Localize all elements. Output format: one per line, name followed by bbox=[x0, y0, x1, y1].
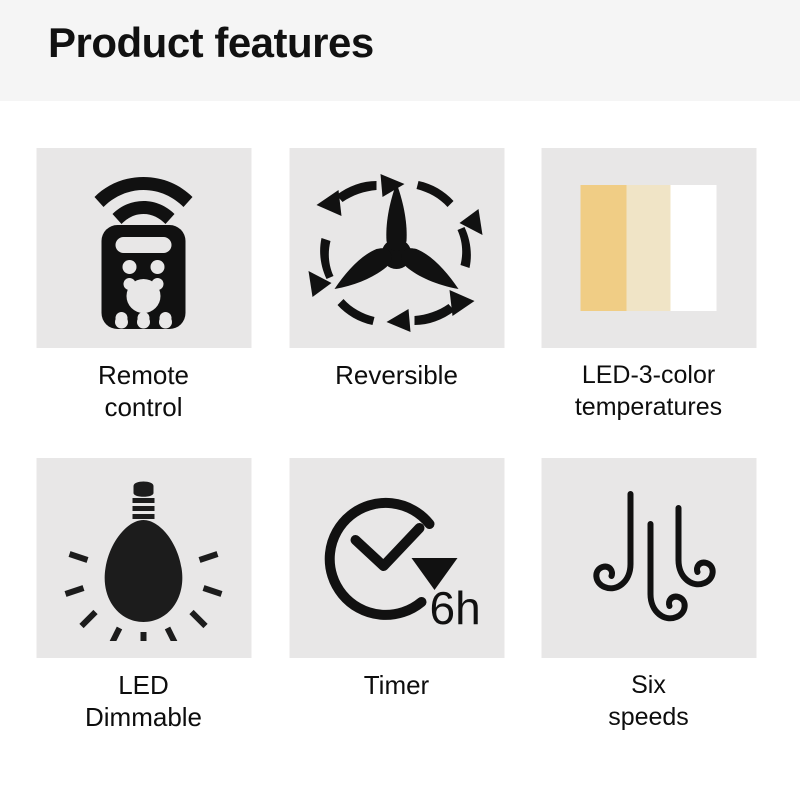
page-title: Product features bbox=[48, 20, 374, 66]
feature-caption: LED Dimmable bbox=[17, 669, 270, 733]
reversible-fan-icon bbox=[307, 161, 487, 336]
caption-line-2: speeds bbox=[522, 701, 775, 733]
swatch-warm bbox=[581, 185, 627, 311]
feature-card-led-color-temperatures[interactable]: LED-3-color temperatures bbox=[522, 137, 775, 447]
color-temperature-swatches-icon bbox=[579, 183, 719, 313]
feature-icon-tile: 6h bbox=[289, 458, 504, 658]
feature-icon-tile bbox=[541, 458, 756, 658]
timer-clock-icon: 6h bbox=[312, 478, 482, 638]
feature-card-six-speeds[interactable]: Six speeds bbox=[522, 447, 775, 757]
remote-control-icon bbox=[64, 163, 224, 333]
feature-caption: Six speeds bbox=[522, 669, 775, 733]
features-row-2: LED Dimmable 6h bbox=[0, 447, 800, 757]
caption-line-2: control bbox=[17, 391, 270, 423]
feature-icon-tile bbox=[541, 148, 756, 348]
feature-icon-tile bbox=[289, 148, 504, 348]
feature-caption: Reversible bbox=[270, 359, 523, 391]
swatch-cool bbox=[671, 185, 717, 311]
feature-icon-tile bbox=[36, 458, 251, 658]
caption-line-1: Remote bbox=[17, 359, 270, 391]
caption-line-1: Six bbox=[522, 669, 775, 701]
caption-line-1: Reversible bbox=[270, 359, 523, 391]
header-bar: Product features bbox=[0, 0, 800, 101]
product-features-infographic: Product features bbox=[0, 0, 800, 800]
feature-card-reversible[interactable]: Reversible bbox=[270, 137, 523, 447]
feature-card-timer[interactable]: 6h Timer bbox=[270, 447, 523, 757]
features-row-1: Remote control bbox=[0, 137, 800, 447]
feature-caption: Remote control bbox=[17, 359, 270, 423]
feature-caption: LED-3-color temperatures bbox=[522, 359, 775, 423]
caption-line-1: Timer bbox=[270, 669, 523, 701]
caption-line-1: LED bbox=[17, 669, 270, 701]
feature-icon-tile bbox=[36, 148, 251, 348]
caption-line-1: LED-3-color bbox=[522, 359, 775, 391]
airflow-speeds-icon bbox=[579, 478, 719, 638]
timer-badge-text: 6h bbox=[430, 582, 481, 634]
caption-line-2: temperatures bbox=[522, 391, 775, 423]
light-bulb-icon bbox=[64, 476, 224, 641]
caption-line-2: Dimmable bbox=[17, 701, 270, 733]
feature-card-led-dimmable[interactable]: LED Dimmable bbox=[17, 447, 270, 757]
swatch-neutral bbox=[627, 185, 671, 311]
feature-caption: Timer bbox=[270, 669, 523, 701]
features-grid: Remote control bbox=[0, 101, 800, 800]
feature-card-remote-control[interactable]: Remote control bbox=[17, 137, 270, 447]
